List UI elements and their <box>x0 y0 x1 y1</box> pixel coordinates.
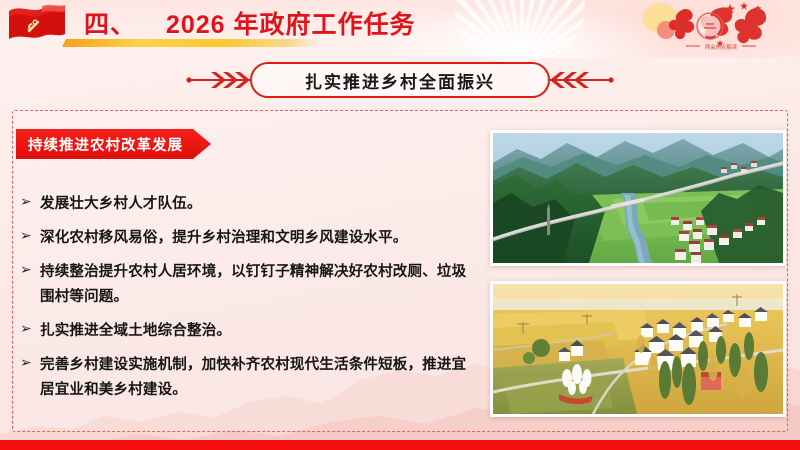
list-item: ➢ 深化农村移风易俗，提升乡村治理和文明乡风建设水平。 <box>20 226 472 251</box>
slide-header: 四、 2026 年政府工作任务 两会热点解读 <box>0 0 800 58</box>
chevron-right-shape-icon <box>193 129 211 159</box>
subsection-label-body: 持续推进农村改革发展 <box>16 129 193 159</box>
list-item: ➢ 发展壮大乡村人才队伍。 <box>20 192 472 217</box>
chevrons-left-icon <box>542 70 614 90</box>
slide: 四、 2026 年政府工作任务 两会热点解读 <box>0 0 800 450</box>
logo-subtext: 两会热点解读 <box>705 43 738 51</box>
gold-accent-bar <box>62 39 322 47</box>
list-item: ➢ 扎实推进全域土地综合整治。 <box>20 319 472 344</box>
bullet-arrow-icon: ➢ <box>20 260 40 281</box>
bullet-list: ➢ 发展壮大乡村人才队伍。 ➢ 深化农村移风易俗，提升乡村治理和文明乡风建设水平… <box>20 192 472 412</box>
bullet-arrow-icon: ➢ <box>20 192 40 213</box>
list-item-text: 发展壮大乡村人才队伍。 <box>40 192 202 217</box>
subsection-label-text: 持续推进农村改革发展 <box>28 134 183 155</box>
aerial-green-valley-village-photo <box>490 130 786 266</box>
party-flag-icon <box>6 4 68 50</box>
bullet-arrow-icon: ➢ <box>20 319 40 340</box>
list-item-text: 深化农村移风易俗，提升乡村治理和文明乡风建设水平。 <box>40 226 408 251</box>
list-item: ➢ 完善乡村建设实施机制，加快补齐农村现代生活条件短板，推进宜居宜业和美乡村建设… <box>20 353 472 403</box>
page-title: 四、 2026 年政府工作任务 <box>84 5 415 41</box>
banner-title: 扎实推进乡村全面振兴 <box>305 68 495 93</box>
list-item-text: 持续整治提升农村人居环境，以钉钉子精神解决好农村改厕、垃圾围村等问题。 <box>40 260 472 310</box>
aerial-golden-rural-village-photo <box>490 281 786 417</box>
section-banner: 扎实推进乡村全面振兴 <box>0 58 800 102</box>
section-number: 四、 <box>84 11 136 39</box>
list-item-text: 扎实推进全域土地综合整治。 <box>40 319 231 344</box>
bullet-arrow-icon: ➢ <box>20 353 40 374</box>
banner-pill: 扎实推进乡村全面振兴 <box>250 62 550 98</box>
chevrons-right-icon <box>186 70 258 90</box>
bullet-arrow-icon: ➢ <box>20 226 40 247</box>
section-title: 2026 年政府工作任务 <box>166 11 416 39</box>
list-item: ➢ 持续整治提升农村人居环境，以钉钉子精神解决好农村改厕、垃圾围村等问题。 <box>20 260 472 310</box>
list-item-text: 完善乡村建设实施机制，加快补齐农村现代生活条件短板，推进宜居宜业和美乡村建设。 <box>40 353 472 403</box>
subsection-label: 持续推进农村改革发展 <box>16 129 211 159</box>
footer-bar <box>0 440 800 450</box>
two-sessions-logo: 两会热点解读 <box>624 0 794 54</box>
